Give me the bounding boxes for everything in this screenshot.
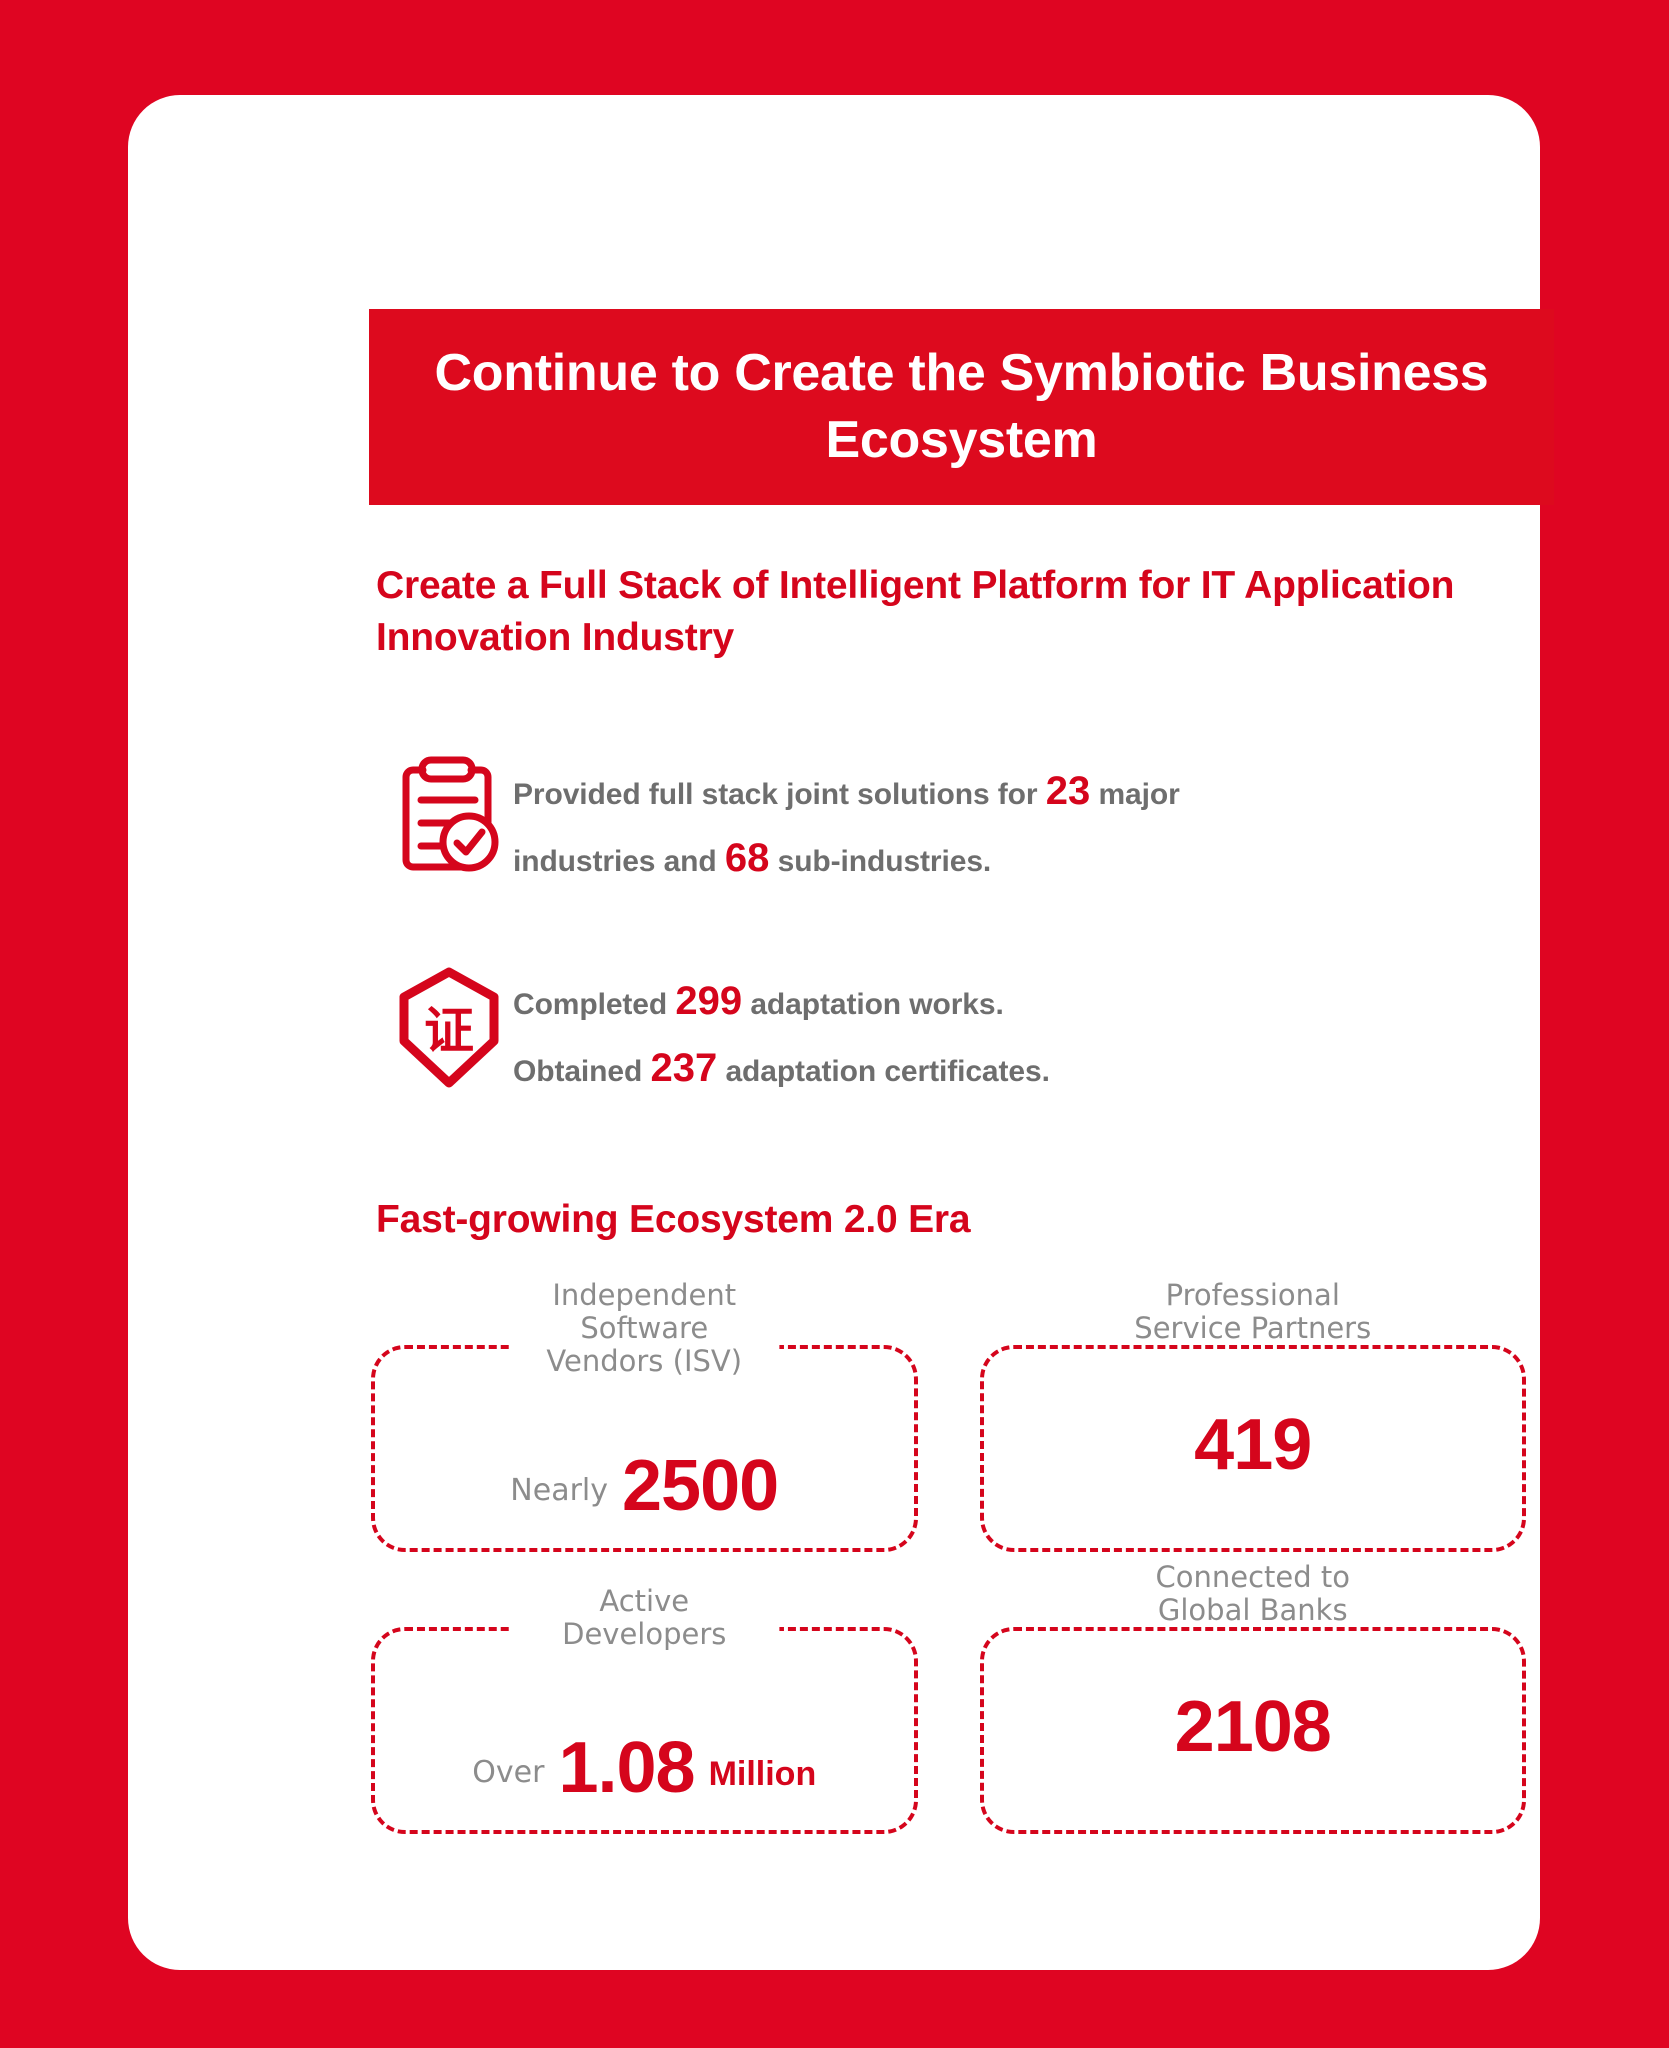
certificate-glyph: 证 <box>424 1002 474 1060</box>
bullet2-line2-suffix: adaptation certificates. <box>717 1055 1050 1088</box>
section-subtitle: Create a Full Stack of Intelligent Platf… <box>376 560 1556 665</box>
stat-card-active-developers-qualifier: Over <box>472 1755 544 1804</box>
stat-card-global-banks-body: 2108 <box>984 1631 1523 1830</box>
stat-card-isv-qualifier: Nearly <box>510 1473 608 1522</box>
content-panel: Continue to Create the Symbiotic Busines… <box>128 95 1540 1970</box>
bullet1-line1-suffix: major <box>1090 778 1179 811</box>
stat-card-isv: Independent Software Vendors (ISV) Nearl… <box>371 1345 918 1552</box>
bullet1-line2-suffix: sub-industries. <box>769 845 991 878</box>
bullet2-line1-prefix: Completed <box>513 988 675 1021</box>
stat-card-service-partners-value: 419 <box>1194 1409 1311 1481</box>
stat-card-service-partners-body: 419 <box>984 1349 1523 1548</box>
shield-certificate-icon: 证 <box>393 960 513 1090</box>
bullet-item-certificates: 证 Completed 299 adaptation works. Obtain… <box>393 960 1050 1102</box>
stat-card-row-2: Active Developers Over 1.08 Million Conn… <box>371 1627 1526 1834</box>
bullet1-line1-prefix: Provided full stack joint solutions for <box>513 778 1046 811</box>
bullet-text-certificates: Completed 299 adaptation works. Obtained… <box>513 960 1050 1102</box>
page-title: Continue to Create the Symbiotic Busines… <box>395 340 1528 473</box>
bullet1-number-subindustries: 68 <box>725 836 770 880</box>
stat-card-global-banks: Connected to Global Banks 2108 <box>980 1627 1527 1834</box>
clipboard-check-icon <box>393 750 513 874</box>
bullet2-number-adaptations: 299 <box>675 979 742 1023</box>
stat-card-active-developers-unit: Million <box>709 1755 817 1804</box>
stat-card-global-banks-label: Connected to Global Banks <box>1140 1561 1367 1627</box>
title-banner: Continue to Create the Symbiotic Busines… <box>369 309 1554 505</box>
poster-background: Continue to Create the Symbiotic Busines… <box>0 0 1669 2048</box>
stat-card-row-1: Independent Software Vendors (ISV) Nearl… <box>371 1345 1526 1552</box>
stat-card-global-banks-value: 2108 <box>1175 1691 1331 1763</box>
bullet-text-solutions: Provided full stack joint solutions for … <box>513 750 1180 892</box>
stat-card-isv-body: Nearly 2500 <box>375 1349 914 1548</box>
bullet-item-solutions: Provided full stack joint solutions for … <box>393 750 1180 892</box>
bullet2-line1-suffix: adaptation works. <box>742 988 1004 1021</box>
stat-card-service-partners-label: Professional Service Partners <box>1118 1279 1387 1345</box>
stat-card-active-developers-value: 1.08 <box>558 1732 694 1804</box>
bullet2-line2-prefix: Obtained <box>513 1055 650 1088</box>
bullet2-number-certificates: 237 <box>650 1046 717 1090</box>
section-heading-ecosystem: Fast-growing Ecosystem 2.0 Era <box>376 1198 970 1242</box>
stat-card-active-developers: Active Developers Over 1.08 Million <box>371 1627 918 1834</box>
bullet1-line2-prefix: industries and <box>513 845 725 878</box>
bullet1-number-industries: 23 <box>1046 769 1091 813</box>
stat-card-active-developers-body: Over 1.08 Million <box>375 1631 914 1830</box>
stat-card-isv-value: 2500 <box>622 1450 778 1522</box>
stat-card-service-partners: Professional Service Partners 419 <box>980 1345 1527 1552</box>
stat-cards-grid: Independent Software Vendors (ISV) Nearl… <box>371 1345 1526 1834</box>
